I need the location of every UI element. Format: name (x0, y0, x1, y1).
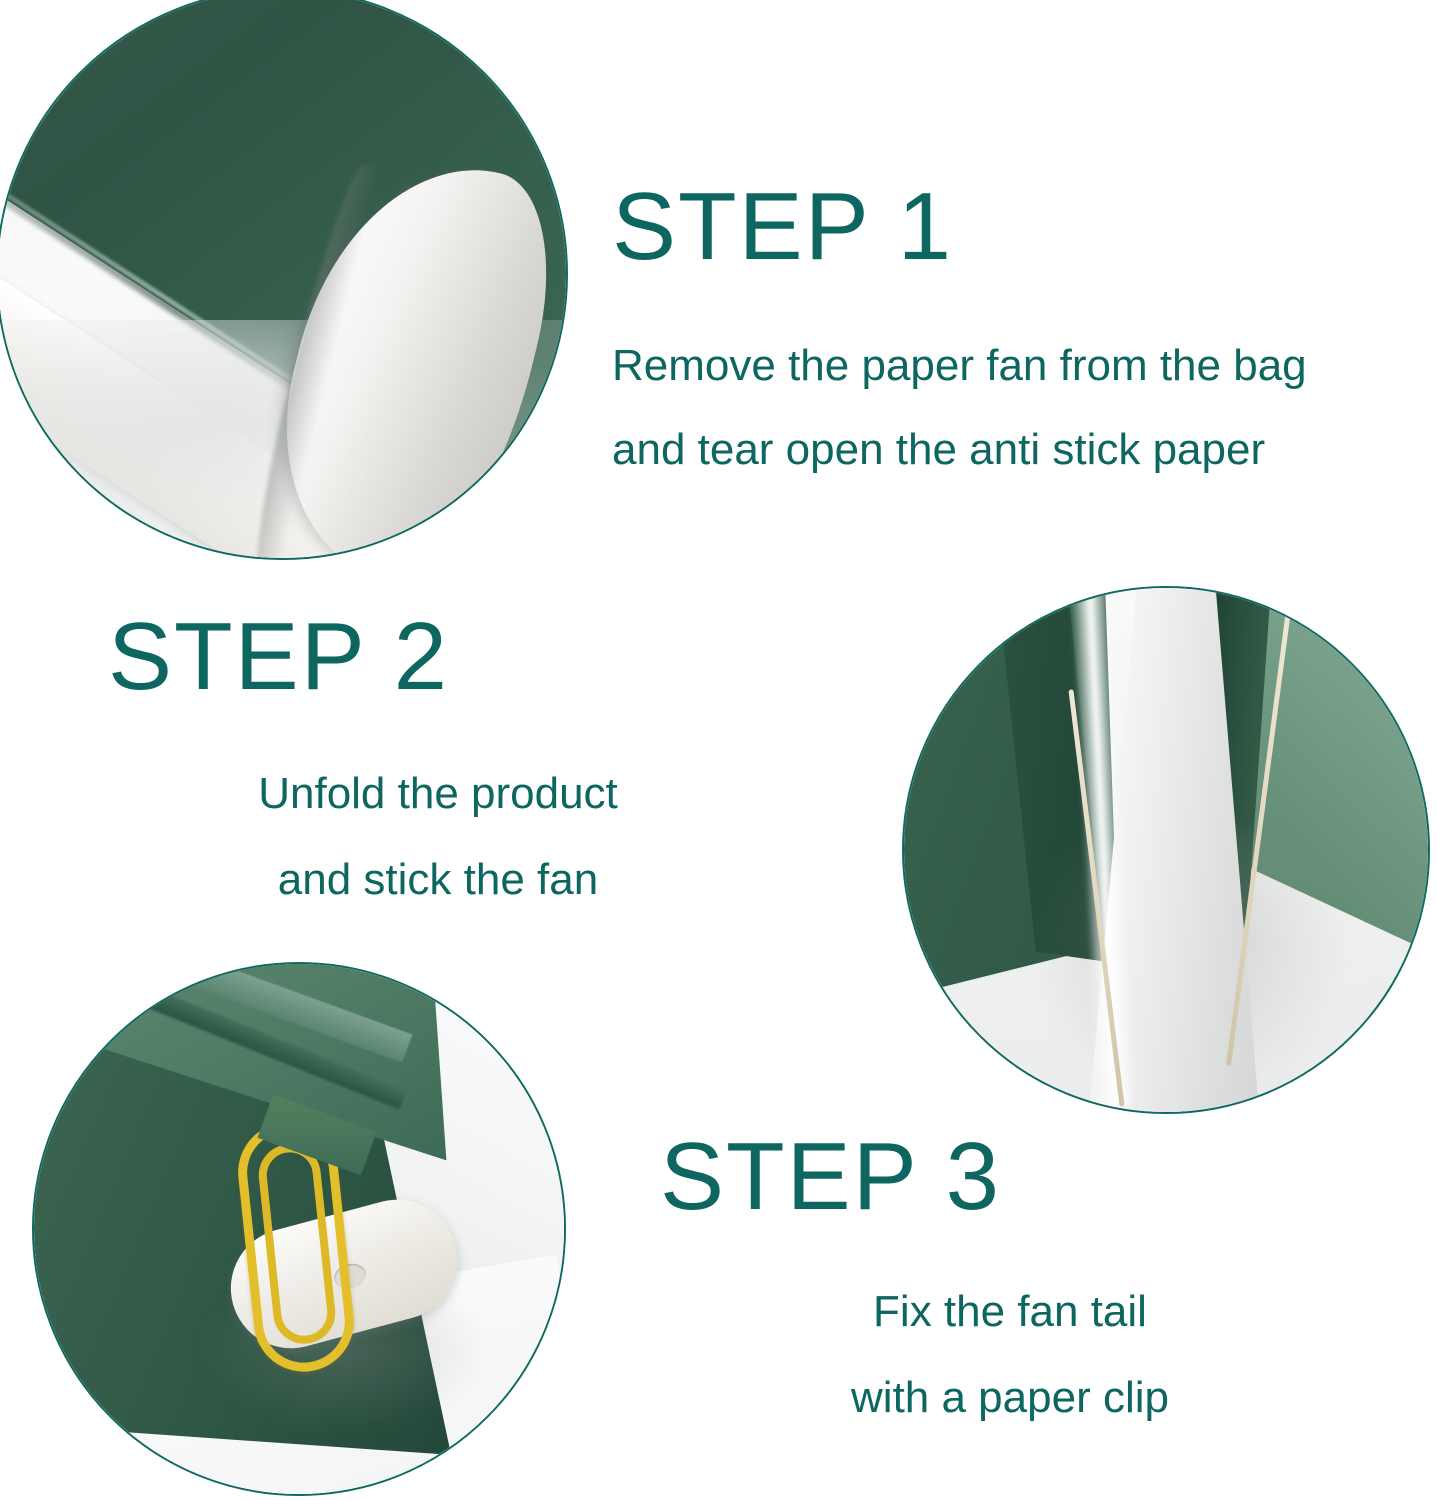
step-3-line-2: with a paper clip (660, 1376, 1360, 1420)
step-2-line-2: and stick the fan (108, 858, 768, 902)
step-1-line-1: Remove the paper fan from the bag (612, 344, 1307, 388)
step-3-photo-content (34, 964, 564, 1494)
step-3-line-1: Fix the fan tail (660, 1290, 1360, 1334)
step-2-line-1: Unfold the product (108, 772, 768, 816)
step-1-photo (0, 0, 568, 560)
step-1-line-2: and tear open the anti stick paper (612, 428, 1307, 472)
instruction-infographic: STEP 1 Remove the paper fan from the bag… (0, 0, 1437, 1500)
step-3-text-block: STEP 3 Fix the fan tail with a paper cli… (660, 1128, 1360, 1420)
step-2-photo (902, 586, 1430, 1114)
step-3-title: STEP 3 (660, 1128, 1360, 1226)
step-1-title: STEP 1 (612, 178, 1307, 276)
step-1-text-block: STEP 1 Remove the paper fan from the bag… (612, 178, 1307, 472)
step-2-photo-content (904, 588, 1428, 1112)
step-3-photo (32, 962, 566, 1496)
step-1-photo-content (0, 0, 566, 558)
step-2-text-block: STEP 2 Unfold the product and stick the … (108, 608, 768, 902)
step-2-title: STEP 2 (108, 608, 768, 706)
